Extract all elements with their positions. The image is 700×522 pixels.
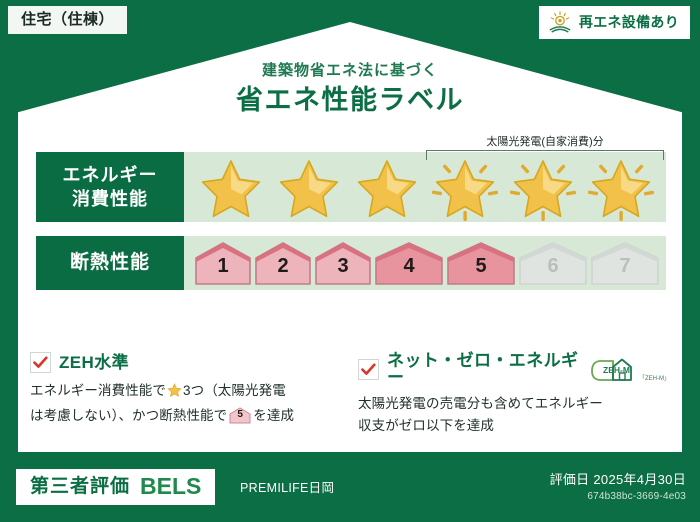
footer-meta: 評価日 2025年4月30日 674b38bc-3669-4e03 xyxy=(550,472,686,503)
criteria-zeh-header: ZEH水準 xyxy=(30,352,342,373)
footer: 第三者評価 BELS PREMILIFE日岡 評価日 2025年4月30日 67… xyxy=(0,460,700,522)
grade-number: 2 xyxy=(277,256,288,285)
grade-number: 4 xyxy=(403,256,414,285)
zeh-desc-starcount: 3つ（太陽光発電 xyxy=(183,383,286,398)
star-base xyxy=(192,152,270,222)
criteria-sections: ZEH水準 エネルギー消費性能で3つ（太陽光発電は考慮しない）、かつ断熱性能で5… xyxy=(30,352,675,436)
grade-badge-3: 3 xyxy=(314,241,372,285)
zeh-desc-part1: エネルギー消費性能で xyxy=(30,383,166,398)
inline-star-icon xyxy=(167,383,182,405)
criteria-net-zero-energy: ネット・ゼロ・エネルギー ZEH-M 「ZEH-M」 太陽光発電の売電分も含めて… xyxy=(358,352,670,436)
star-solar xyxy=(582,152,660,222)
evaluation-date: 評価日 2025年4月30日 xyxy=(550,472,686,488)
grade-badge-4: 4 xyxy=(374,241,444,285)
grade-badge-5: 5 xyxy=(446,241,516,285)
bels-plate: 第三者評価 BELS xyxy=(16,469,215,505)
insulation-performance-row: 断熱性能 1234567 xyxy=(36,236,666,290)
criteria-nze-title: ネット・ゼロ・エネルギー xyxy=(387,352,583,386)
zeh-desc-part3: を達成 xyxy=(253,408,294,423)
bels-jp-label: 第三者評価 xyxy=(30,477,130,496)
inline-grade-badge: 5 xyxy=(229,407,251,424)
energy-label-card: 住宅（住棟） 再エネ設備あり 建築物省エネ法に基づく 省エネ性能ラベル xyxy=(0,0,700,522)
energy-star-panel: 太陽光発電(自家消費)分 xyxy=(184,152,666,222)
title-block: 建築物省エネ法に基づく 省エネ性能ラベル xyxy=(0,62,700,116)
insulation-performance-label: 断熱性能 xyxy=(36,236,184,290)
star-base xyxy=(348,152,426,222)
energy-label-line1: エネルギー xyxy=(63,163,158,187)
solar-sun-icon xyxy=(548,11,572,33)
zeh-desc-part2: は考慮しない）、かつ断熱性能で xyxy=(30,408,227,423)
zeh-m-logo: ZEH-M 「ZEH-M」 xyxy=(589,354,670,384)
grade-number: 5 xyxy=(475,256,486,285)
renewable-equipment-badge: 再エネ設備あり xyxy=(539,6,690,39)
check-icon xyxy=(30,352,51,373)
evaluation-id: 674b38bc-3669-4e03 xyxy=(550,491,686,503)
grade-number: 1 xyxy=(217,256,228,285)
star-solar xyxy=(504,152,582,222)
renewable-badge-label: 再エネ設備あり xyxy=(579,15,679,29)
star-base xyxy=(270,152,348,222)
insulation-grade-panel: 1234567 xyxy=(184,236,666,290)
bels-logo-text: BELS xyxy=(140,475,201,498)
star-solar xyxy=(426,152,504,222)
star-strip xyxy=(192,152,660,222)
grade-number: 3 xyxy=(337,256,348,285)
criteria-nze-description: 太陽光発電の売電分も含めてエネルギー収支がゼロ以下を達成 xyxy=(358,393,670,436)
svg-text:ZEH-M: ZEH-M xyxy=(603,365,630,375)
check-icon xyxy=(358,359,379,380)
criteria-nze-header: ネット・ゼロ・エネルギー ZEH-M 「ZEH-M」 xyxy=(358,352,670,386)
house-type-tag: 住宅（住棟） xyxy=(8,6,127,34)
grade-strip: 1234567 xyxy=(192,241,660,285)
zeh-m-logo-caption: 「ZEH-M」 xyxy=(639,373,670,384)
criteria-zeh-title: ZEH水準 xyxy=(59,354,129,371)
nze-desc-part1: 太陽光発電の売電分も含めてエネルギー xyxy=(358,396,603,411)
energy-performance-label: エネルギー 消費性能 xyxy=(36,152,184,222)
rating-rows: エネルギー 消費性能 太陽光発電(自家消費)分 断熱性能 1234567 xyxy=(36,152,666,304)
nze-desc-part2: 収支がゼロ以下を達成 xyxy=(358,418,494,433)
title-main: 省エネ性能ラベル xyxy=(0,85,700,116)
energy-performance-row: エネルギー 消費性能 太陽光発電(自家消費)分 xyxy=(36,152,666,222)
insulation-label-text: 断熱性能 xyxy=(70,250,150,276)
grade-badge-2: 2 xyxy=(254,241,312,285)
criteria-zeh-description: エネルギー消費性能で3つ（太陽光発電は考慮しない）、かつ断熱性能で5を達成 xyxy=(30,380,342,426)
grade-badge-1: 1 xyxy=(194,241,252,285)
grade-badge-7: 7 xyxy=(590,241,660,285)
property-name: PREMILIFE日岡 xyxy=(240,482,334,495)
inline-grade-number: 5 xyxy=(229,407,251,424)
grade-badge-6: 6 xyxy=(518,241,588,285)
grade-number: 7 xyxy=(619,256,630,285)
criteria-zeh-standard: ZEH水準 エネルギー消費性能で3つ（太陽光発電は考慮しない）、かつ断熱性能で5… xyxy=(30,352,342,436)
energy-label-line2: 消費性能 xyxy=(72,187,148,211)
title-subtitle: 建築物省エネ法に基づく xyxy=(0,62,700,80)
grade-number: 6 xyxy=(547,256,558,285)
